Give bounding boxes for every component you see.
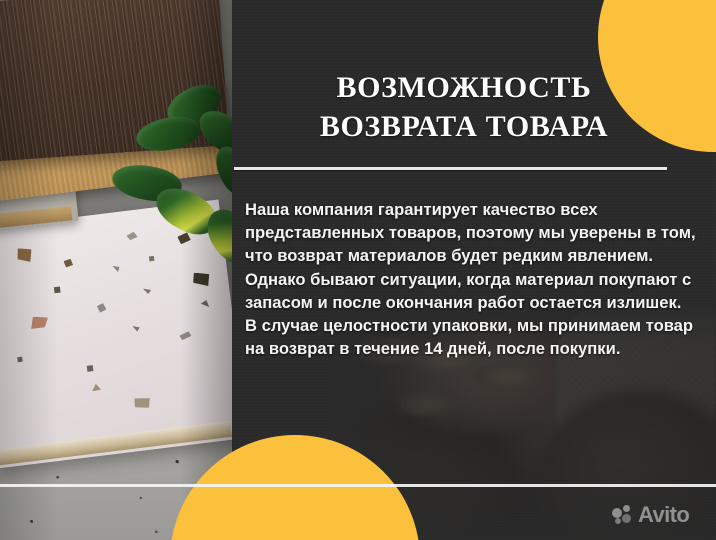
title-divider-rule (234, 167, 667, 170)
page-title-line-1: ВОЗМОЖНОСТЬ (240, 68, 688, 107)
content-column: ВОЗМОЖНОСТЬ ВОЗВРАТА ТОВАРА Наша компани… (232, 0, 716, 540)
avito-watermark: Avito (612, 505, 689, 525)
photo-vignette (0, 0, 232, 540)
footer-rule (0, 484, 716, 487)
avito-dots-icon (612, 505, 634, 525)
avito-wordmark: Avito (638, 505, 689, 525)
page-title: ВОЗМОЖНОСТЬ ВОЗВРАТА ТОВАРА (240, 68, 688, 146)
promo-banner: ВОЗМОЖНОСТЬ ВОЗВРАТА ТОВАРА Наша компани… (0, 0, 716, 540)
building-materials-photo (0, 0, 232, 540)
body-paragraph: Наша компания гарантирует качество всех … (245, 198, 697, 360)
page-title-line-2: ВОЗВРАТА ТОВАРА (240, 107, 688, 146)
